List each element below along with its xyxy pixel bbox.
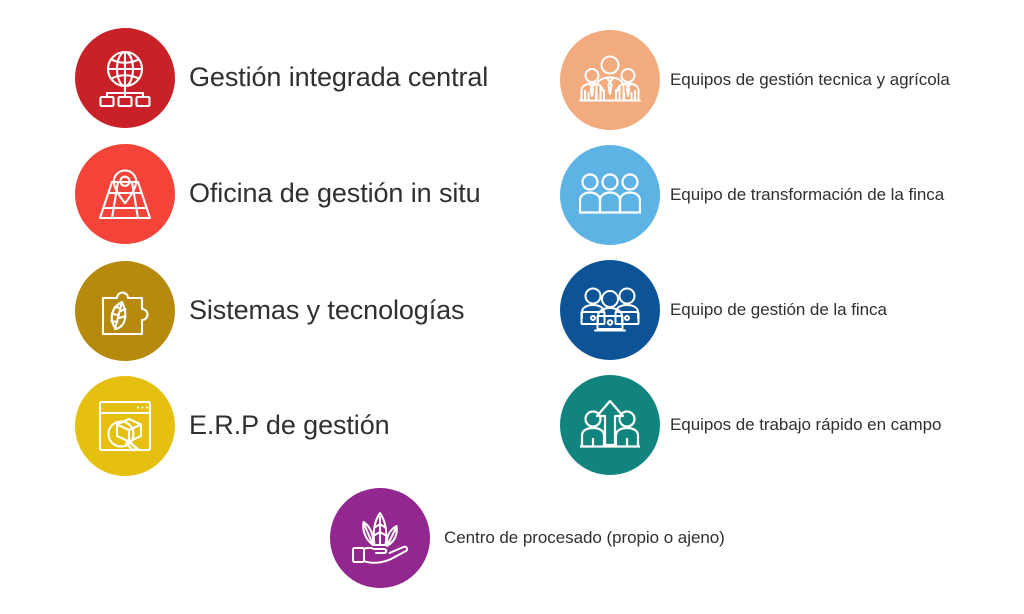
list-item-gestion-integrada-central[interactable]: Gestión integrada central	[75, 28, 488, 128]
infographic-board: Gestión integrada central Oficina de ges…	[0, 0, 1024, 614]
badge-three-people-suits[interactable]	[560, 30, 660, 130]
three-people-icon	[579, 171, 641, 219]
list-item-label: Equipos de trabajo rápido en campo	[670, 415, 941, 435]
badge-three-people[interactable]	[560, 145, 660, 245]
list-item-label: Centro de procesado (propio o ajeno)	[444, 528, 725, 548]
badge-three-people-laptops[interactable]	[560, 260, 660, 360]
badge-hand-leaves[interactable]	[330, 488, 430, 588]
two-people-up-arrow-icon	[580, 397, 640, 453]
list-item-centro-de-procesado[interactable]: Centro de procesado (propio o ajeno)	[330, 488, 725, 588]
list-item-label: Oficina de gestión in situ	[189, 178, 481, 209]
list-item-label: Equipos de gestión tecnica y agrícola	[670, 70, 950, 90]
badge-globe-network[interactable]	[75, 28, 175, 128]
list-item-label: Equipo de gestión de la finca	[670, 300, 887, 320]
browser-package-search-icon	[95, 396, 155, 456]
list-item-equipos-trabajo-rapido-campo[interactable]: Equipos de trabajo rápido en campo	[560, 375, 941, 475]
list-item-label: E.R.P de gestión	[189, 410, 390, 441]
list-item-label: Equipo de transformación de la finca	[670, 185, 944, 205]
three-people-laptops-icon	[579, 284, 641, 336]
map-location-pin-icon	[95, 165, 155, 223]
badge-map-location[interactable]	[75, 144, 175, 244]
hand-holding-leaves-icon	[349, 509, 411, 567]
list-item-sistemas-y-tecnologias[interactable]: Sistemas y tecnologías	[75, 261, 464, 361]
globe-network-icon	[94, 47, 156, 109]
list-item-equipos-gestion-tecnica-agricola[interactable]: Equipos de gestión tecnica y agrícola	[560, 30, 950, 130]
list-item-oficina-de-gestion-in-situ[interactable]: Oficina de gestión in situ	[75, 144, 481, 244]
list-item-label: Sistemas y tecnologías	[189, 295, 464, 326]
list-item-erp-de-gestion[interactable]: E.R.P de gestión	[75, 376, 390, 476]
badge-puzzle-leaf[interactable]	[75, 261, 175, 361]
list-item-label: Gestión integrada central	[189, 62, 488, 93]
badge-two-people-arrow[interactable]	[560, 375, 660, 475]
list-item-equipo-gestion-finca[interactable]: Equipo de gestión de la finca	[560, 260, 887, 360]
list-item-equipo-transformacion-finca[interactable]: Equipo de transformación de la finca	[560, 145, 944, 245]
badge-browser-package[interactable]	[75, 376, 175, 476]
three-people-suits-icon	[579, 53, 641, 107]
puzzle-leaf-icon	[95, 281, 155, 341]
